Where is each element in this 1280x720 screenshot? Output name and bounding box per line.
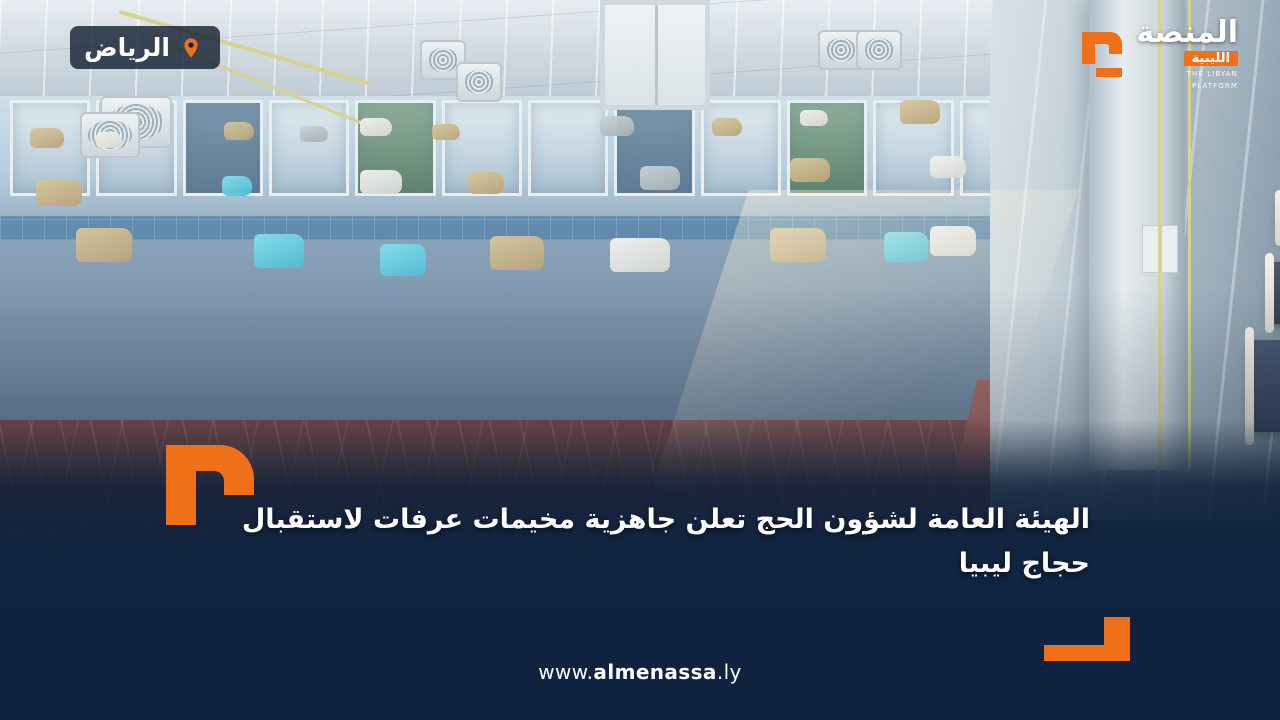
orange-bracket-bottom-icon bbox=[1044, 617, 1130, 661]
luggage-bag bbox=[222, 176, 252, 196]
window-pane bbox=[528, 100, 608, 196]
ac-unit-icon bbox=[456, 62, 502, 102]
luggage-bag bbox=[468, 172, 504, 194]
luggage-bag bbox=[224, 122, 254, 140]
logo-sub-text: الليبية bbox=[1184, 51, 1238, 66]
luggage-bag bbox=[712, 118, 742, 136]
map-pin-icon bbox=[180, 37, 202, 59]
screenshot-root: الرياض المنصة الليبية THE LIBYAN PLATFOR… bbox=[0, 0, 1280, 720]
logo-latin-line1: THE LIBYAN bbox=[1136, 71, 1238, 78]
logo-text-group: المنصة الليبية THE LIBYAN PLATFORM bbox=[1136, 18, 1238, 90]
window-pane bbox=[701, 100, 781, 196]
tent-doorway bbox=[600, 0, 710, 110]
luggage-bag bbox=[76, 228, 132, 262]
footer-website-url[interactable]: www.almenassa.ly bbox=[0, 660, 1280, 684]
site-logo[interactable]: المنصة الليبية THE LIBYAN PLATFORM bbox=[1074, 18, 1238, 90]
luggage-bag bbox=[360, 118, 392, 136]
luggage-bag bbox=[490, 236, 544, 270]
luggage-bag bbox=[380, 244, 426, 276]
headline-line-2: حجاج ليبيا bbox=[230, 542, 1090, 586]
ac-unit-icon bbox=[856, 30, 902, 70]
bed bbox=[1270, 262, 1280, 324]
luggage-bag bbox=[884, 232, 928, 262]
luggage-bag bbox=[96, 132, 122, 148]
url-brand: almenassa bbox=[593, 660, 716, 684]
brand-bracket-mark-icon bbox=[1074, 26, 1128, 82]
luggage-bag bbox=[900, 100, 940, 124]
url-suffix: .ly bbox=[717, 660, 742, 684]
headline-line-1: الهيئة العامة لشؤون الحج تعلن جاهزية مخي… bbox=[230, 498, 1090, 542]
luggage-bag bbox=[254, 234, 304, 268]
headline: الهيئة العامة لشؤون الحج تعلن جاهزية مخي… bbox=[230, 498, 1090, 585]
luggage-bag bbox=[30, 128, 64, 148]
luggage-bag bbox=[930, 226, 976, 256]
luggage-bag bbox=[36, 180, 82, 206]
luggage-bag bbox=[640, 166, 680, 190]
luggage-bag bbox=[790, 158, 830, 182]
location-badge: الرياض bbox=[70, 26, 220, 69]
logo-latin-line2: PLATFORM bbox=[1136, 83, 1238, 90]
luggage-bag bbox=[930, 156, 966, 178]
luggage-bag bbox=[610, 238, 670, 272]
bed bbox=[1250, 340, 1280, 432]
location-label: الرياض bbox=[84, 35, 170, 60]
url-prefix: www. bbox=[538, 660, 593, 684]
luggage-bag bbox=[800, 110, 828, 126]
luggage-bag bbox=[600, 116, 634, 136]
luggage-bag bbox=[770, 228, 826, 262]
luggage-bag bbox=[300, 126, 328, 142]
luggage-bag bbox=[432, 124, 460, 140]
luggage-bag bbox=[360, 170, 402, 194]
logo-main-text: المنصة bbox=[1136, 18, 1238, 48]
